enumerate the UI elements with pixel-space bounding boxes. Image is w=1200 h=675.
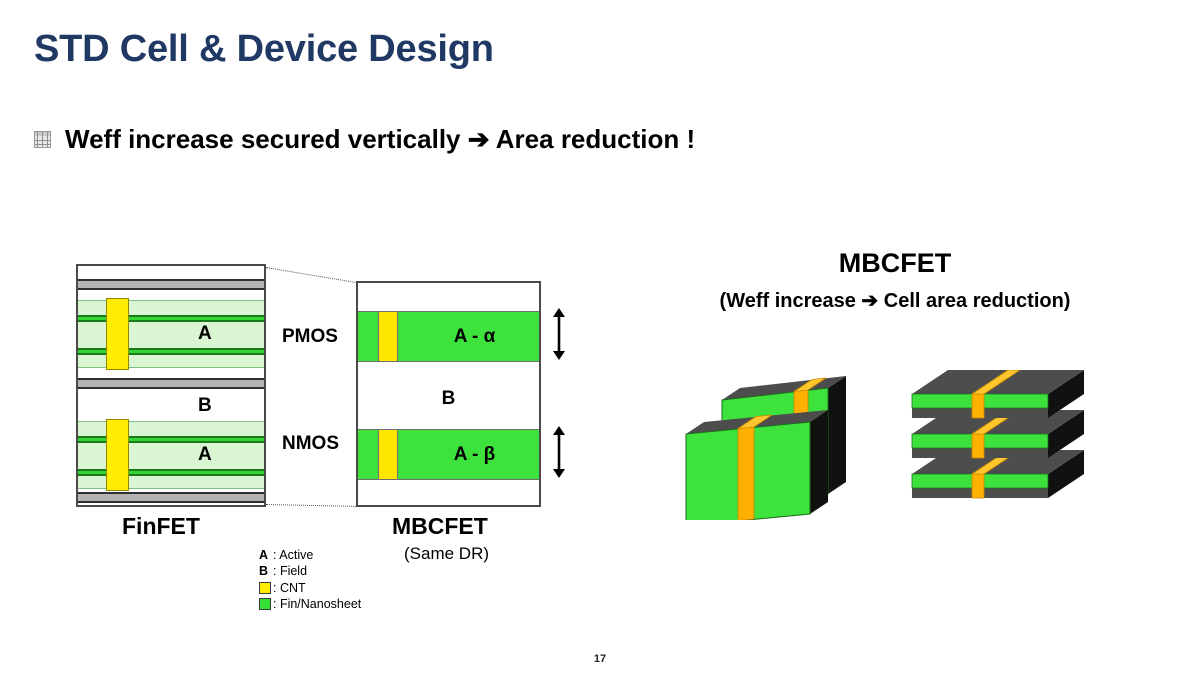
cnt-bar — [106, 419, 129, 491]
cnt-swatch — [259, 582, 271, 594]
legend-label: : Field — [273, 563, 307, 579]
finfet-field-region: B — [78, 389, 264, 422]
legend-item: : Fin/Nanosheet — [259, 596, 361, 612]
mbcfet-3d-diagram — [898, 370, 1098, 520]
weff-arrow-nmos — [550, 425, 568, 479]
device-label-pmos: PMOS — [282, 326, 338, 348]
legend-label: : CNT — [273, 580, 306, 596]
legend: A : Active B : Field : CNT : Fin/Nanoshe… — [259, 547, 361, 613]
finfet-layout-box: A B A — [76, 264, 266, 507]
cnt-bar — [106, 298, 129, 370]
mbcfet-bar-label: A - β — [358, 444, 539, 466]
mbcfet-field-label: B — [358, 388, 539, 410]
table-grid-icon — [34, 131, 51, 148]
mbcfet-subcaption: (Same DR) — [404, 544, 489, 564]
leader-line-bottom — [266, 504, 360, 507]
bullet-row: Weff increase secured vertically ➔ Area … — [34, 124, 695, 155]
legend-key: A — [259, 547, 273, 563]
mbcfet-caption: MBCFET — [392, 513, 488, 540]
mbcfet-layout-box: A - α B A - β — [356, 281, 541, 507]
legend-key: B — [259, 563, 273, 579]
mbcfet-3d-subheading: (Weff increase ➔ Cell area reduction) — [660, 288, 1130, 313]
mbcfet-bar-label: A - α — [358, 326, 539, 348]
mbcfet-nanosheet-bar-nmos: A - β — [358, 429, 539, 480]
page-number: 17 — [0, 653, 1200, 665]
finfet-gray-band-mid-upper — [78, 378, 264, 389]
weff-arrow-pmos — [550, 307, 568, 361]
legend-item: A : Active — [259, 547, 361, 563]
right-3d-figure: MBCFET (Weff increase ➔ Cell area reduct… — [660, 248, 1130, 548]
device-label-nmos: NMOS — [282, 433, 339, 455]
legend-item: : CNT — [259, 580, 361, 596]
finfet-gray-band-top — [78, 279, 264, 290]
fin-nanosheet-swatch — [259, 598, 271, 610]
legend-item: B : Field — [259, 563, 361, 579]
finfet-region-label: A — [198, 323, 212, 345]
page-title: STD Cell & Device Design — [34, 28, 494, 71]
finfet-gray-band-bottom — [78, 492, 264, 503]
legend-label: : Active — [273, 547, 313, 563]
finfet-3d-diagram — [670, 370, 870, 520]
legend-label: : Fin/Nanosheet — [273, 596, 361, 612]
finfet-region-label: B — [198, 395, 212, 417]
mbcfet-nanosheet-bar-pmos: A - α — [358, 311, 539, 362]
leader-line-top — [266, 267, 361, 284]
finfet-region-label: A — [198, 444, 212, 466]
mbcfet-3d-heading: MBCFET — [660, 248, 1130, 279]
finfet-caption: FinFET — [122, 513, 200, 540]
bullet-text: Weff increase secured vertically ➔ Area … — [65, 124, 695, 155]
